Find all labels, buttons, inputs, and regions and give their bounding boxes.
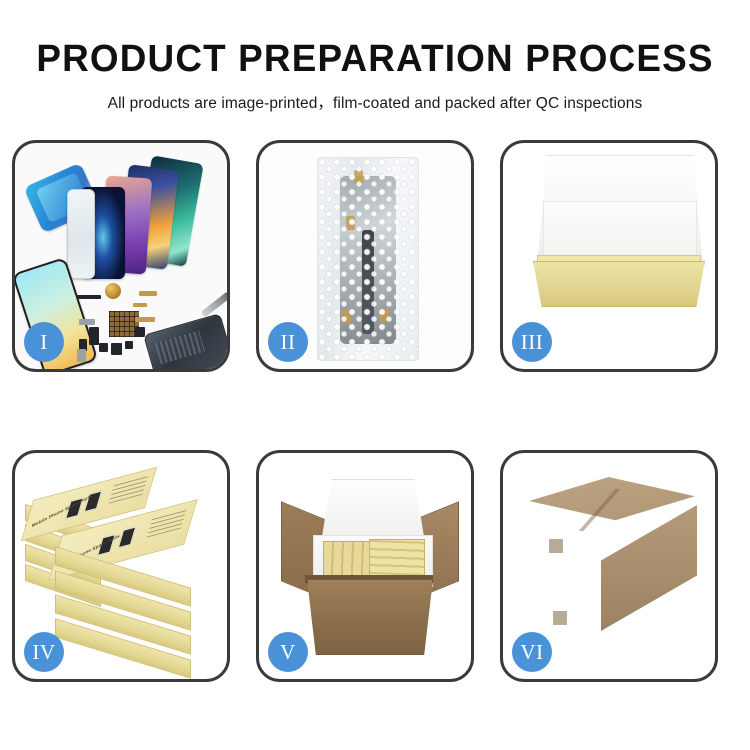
part-small-2: [99, 343, 108, 352]
page-subtitle: All products are image-printed，film-coat…: [0, 91, 750, 113]
process-step-3: III: [500, 140, 718, 372]
vibrator-motor-icon: [105, 283, 121, 299]
part-small-4: [135, 327, 145, 337]
process-step-2: II: [256, 140, 474, 372]
screen-glass-panel: [67, 189, 95, 279]
part-small-3: [125, 341, 133, 349]
box-image-a2: [84, 490, 103, 512]
box-text-lines-a: [108, 475, 148, 504]
part-cable-1: [89, 327, 99, 345]
part-bracket-1: [79, 319, 95, 325]
carton-front-panel: [307, 579, 433, 655]
product-preparation-page: PRODUCT PREPARATION PROCESS All products…: [0, 0, 750, 750]
step-badge-3: III: [512, 322, 552, 362]
foam-box-lid: [321, 479, 425, 543]
part-flex-gold-2: [133, 303, 147, 307]
page-header: PRODUCT PREPARATION PROCESS All products…: [0, 0, 750, 113]
step-badge-1: I: [24, 322, 64, 362]
box-text-lines-b: [147, 509, 187, 538]
process-step-5: V: [256, 450, 474, 682]
spare-parts-group: [77, 281, 227, 369]
part-strip-1: [77, 295, 101, 299]
step-badge-4: IV: [24, 632, 64, 672]
part-flex-gold-3: [135, 317, 155, 322]
process-step-1: I: [12, 140, 230, 372]
part-speaker: [111, 343, 122, 355]
step-badge-6: VI: [512, 632, 552, 672]
part-flex-gold-1: [139, 291, 157, 296]
box-image-b2: [118, 526, 137, 548]
page-title: PRODUCT PREPARATION PROCESS: [11, 40, 739, 80]
bubble-texture: [318, 158, 418, 360]
process-step-6: VI: [500, 450, 718, 682]
yellow-box-base: [533, 261, 705, 307]
step-badge-5: V: [268, 632, 308, 672]
phone-chassis: [143, 313, 227, 369]
part-sim-tray: [77, 349, 86, 362]
carton-tape-upper: [549, 539, 563, 553]
process-grid: I II: [12, 140, 738, 682]
carton-right-face: [601, 505, 697, 631]
process-step-4: Mobile Phone Spare Parts Mobile Phone Sp…: [12, 450, 230, 682]
bubble-wrap-bag: [317, 157, 419, 361]
carton-tape-lower: [553, 611, 567, 625]
step-badge-2: II: [268, 322, 308, 362]
